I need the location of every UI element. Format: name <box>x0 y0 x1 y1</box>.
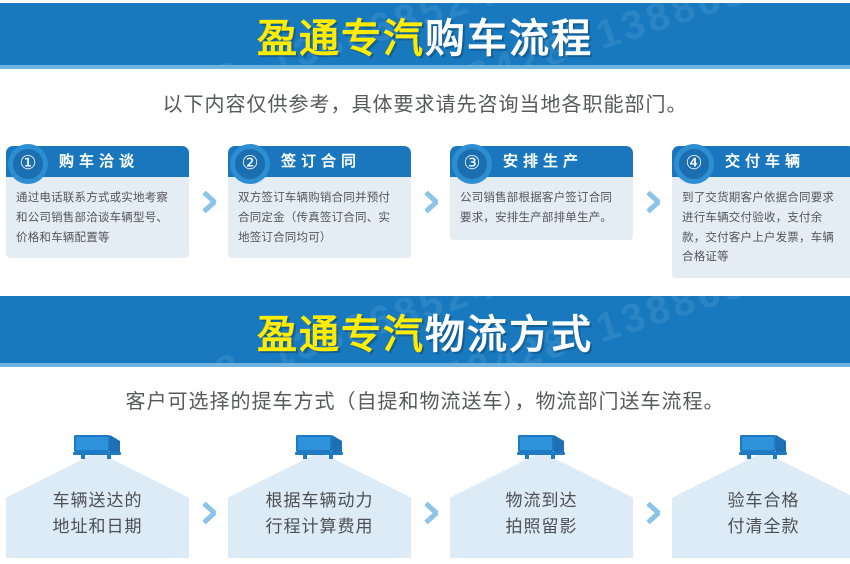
logistics-card-line2-1: 地址和日期 <box>6 514 189 540</box>
step-arrow-1 <box>189 146 228 258</box>
step-arrow-2 <box>411 146 450 258</box>
logistics-card-text-3: 物流到达 拍照留影 <box>450 488 633 541</box>
logistics-card-line1-4: 验车合格 <box>672 488 850 514</box>
purchase-process-subtitle: 以下内容仅供参考，具体要求请先咨询当地各职能部门。 <box>0 88 850 117</box>
step-body-text-2: 双方签订车辆购销合同并预付合同定金（传真签订合同、实地签订合同均可） <box>238 189 401 248</box>
step-body-text-4: 到了交货期客户依据合同要求进行车辆交付验收，支付余款，交付客户上户发票，车辆合格… <box>682 189 845 268</box>
logistics-card-line1-1: 车辆送达的 <box>6 488 189 514</box>
purchase-steps-row: ① 购车洽谈 通过电话联系方式或实地考察和公司销售部洽谈车辆型号、价格和车辆配置… <box>0 146 850 258</box>
step-arrow-3 <box>633 146 672 258</box>
step-header-1: ① 购车洽谈 <box>6 146 189 177</box>
truck-icon <box>292 432 348 462</box>
step-header-3: ③ 安排生产 <box>450 146 633 177</box>
logistics-card-1: 车辆送达的 地址和日期 <box>6 432 189 558</box>
logistics-banner: 13886852428 13886852428 13886852428 1388… <box>0 296 850 367</box>
logistics-card-text-4: 验车合格 付清全款 <box>672 488 850 541</box>
step-body-4: 到了交货期客户依据合同要求进行车辆交付验收，支付余款，交付客户上户发票，车辆合格… <box>672 177 850 278</box>
step-number-badge-1: ① <box>13 149 43 179</box>
logistics-arrow-1 <box>189 432 228 558</box>
logistics-card-line1-2: 根据车辆动力 <box>228 488 411 514</box>
step-title-3: 安排生产 <box>503 146 583 177</box>
truck-icon <box>514 432 570 462</box>
step-body-3: 公司销售部根据客户签订合同要求，安排生产部排单生产。 <box>450 177 633 240</box>
step-card-3: ③ 安排生产 公司销售部根据客户签订合同要求，安排生产部排单生产。 <box>450 146 633 240</box>
step-body-text-3: 公司销售部根据客户签订合同要求，安排生产部排单生产。 <box>460 189 623 229</box>
logistics-card-text-2: 根据车辆动力 行程计算费用 <box>228 488 411 541</box>
step-body-2: 双方签订车辆购销合同并预付合同定金（传真签订合同、实地签订合同均可） <box>228 177 411 258</box>
step-title-2: 签订合同 <box>281 146 361 177</box>
logistics-steps-row: 车辆送达的 地址和日期 根据车辆动力 行程计算费用 <box>0 432 850 558</box>
step-number-badge-4: ④ <box>679 149 709 179</box>
logistics-card-line1-3: 物流到达 <box>450 488 633 514</box>
chevron-right-icon <box>424 191 437 213</box>
step-card-4: ④ 交付车辆 到了交货期客户依据合同要求进行车辆交付验收，支付余款，交付客户上户… <box>672 146 850 278</box>
purchase-process-banner: 13886852428 13886852428 13886852428 1388… <box>0 3 850 69</box>
logistics-arrow-2 <box>411 432 450 558</box>
logistics-card-3: 物流到达 拍照留影 <box>450 432 633 558</box>
banner-title-purchase: 盈通专汽购车流程 <box>0 6 850 64</box>
banner-brand-text: 盈通专汽 <box>257 312 425 356</box>
logistics-arrow-3 <box>633 432 672 558</box>
chevron-right-icon <box>646 191 659 213</box>
logistics-card-line2-2: 行程计算费用 <box>228 514 411 540</box>
logistics-subtitle: 客户可选择的提车方式（自提和物流送车），物流部门送车流程。 <box>0 385 850 414</box>
chevron-right-icon <box>646 502 659 524</box>
logistics-card-line2-4: 付清全款 <box>672 514 850 540</box>
banner-heading-text: 物流方式 <box>425 312 593 356</box>
truck-icon <box>736 432 792 462</box>
chevron-right-icon <box>202 502 215 524</box>
step-card-1: ① 购车洽谈 通过电话联系方式或实地考察和公司销售部洽谈车辆型号、价格和车辆配置… <box>6 146 189 258</box>
chevron-right-icon <box>424 502 437 524</box>
chevron-right-icon <box>202 191 215 213</box>
banner-brand-text: 盈通专汽 <box>257 17 425 61</box>
step-number-badge-3: ③ <box>457 149 487 179</box>
step-header-4: ④ 交付车辆 <box>672 146 850 177</box>
banner-heading-text: 购车流程 <box>425 17 593 61</box>
step-card-2: ② 签订合同 双方签订车辆购销合同并预付合同定金（传真签订合同、实地签订合同均可… <box>228 146 411 258</box>
step-header-2: ② 签订合同 <box>228 146 411 177</box>
banner-title-logistics: 盈通专汽物流方式 <box>0 301 850 359</box>
step-body-1: 通过电话联系方式或实地考察和公司销售部洽谈车辆型号、价格和车辆配置等 <box>6 177 189 258</box>
step-body-text-1: 通过电话联系方式或实地考察和公司销售部洽谈车辆型号、价格和车辆配置等 <box>16 189 179 248</box>
truck-icon <box>70 432 126 462</box>
logistics-card-2: 根据车辆动力 行程计算费用 <box>228 432 411 558</box>
logistics-card-text-1: 车辆送达的 地址和日期 <box>6 488 189 541</box>
logistics-card-line2-3: 拍照留影 <box>450 514 633 540</box>
logistics-card-4: 验车合格 付清全款 <box>672 432 850 558</box>
step-title-1: 购车洽谈 <box>59 146 139 177</box>
step-number-badge-2: ② <box>235 149 265 179</box>
step-title-4: 交付车辆 <box>725 146 805 177</box>
